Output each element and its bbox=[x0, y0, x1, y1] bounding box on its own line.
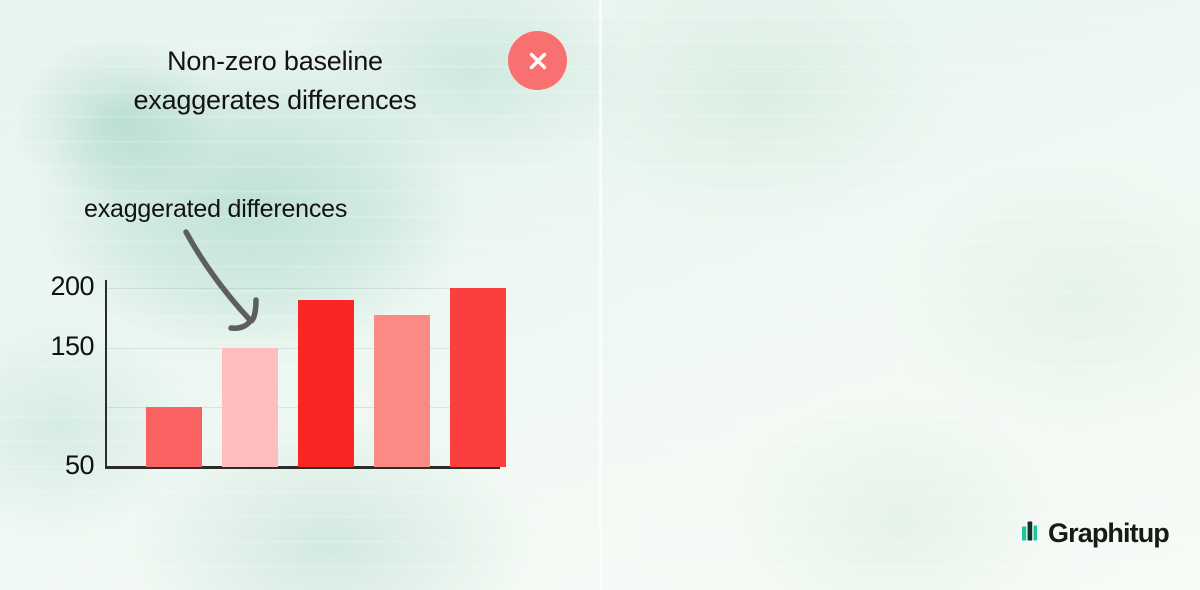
bar bbox=[374, 315, 430, 467]
bar bbox=[146, 407, 202, 467]
bar-chart-logo-icon bbox=[1021, 519, 1045, 548]
y-axis-tick-label: 50 bbox=[22, 452, 94, 479]
misleading-bar-chart: 50150200 bbox=[106, 280, 500, 467]
infographic-canvas: Non-zero baseline exaggerates difference… bbox=[0, 0, 1200, 590]
graphitup-logo: Graphitup bbox=[1021, 519, 1169, 548]
bar bbox=[222, 348, 278, 467]
annotation-label: exaggerated differences bbox=[84, 195, 347, 224]
y-axis-tick-label: 200 bbox=[22, 273, 94, 300]
cross-badge bbox=[508, 31, 567, 90]
logo-wordmark: Graphitup bbox=[1048, 520, 1169, 547]
bar bbox=[298, 300, 354, 467]
y-axis-tick-label: 150 bbox=[22, 333, 94, 360]
bar bbox=[450, 288, 506, 467]
bar-group bbox=[106, 280, 500, 467]
cross-icon bbox=[525, 48, 551, 74]
right-panel: Zero baseline restores proportionality 0… bbox=[600, 0, 1200, 590]
left-panel-title: Non-zero baseline exaggerates difference… bbox=[60, 42, 490, 121]
left-panel: Non-zero baseline exaggerates difference… bbox=[0, 0, 600, 590]
